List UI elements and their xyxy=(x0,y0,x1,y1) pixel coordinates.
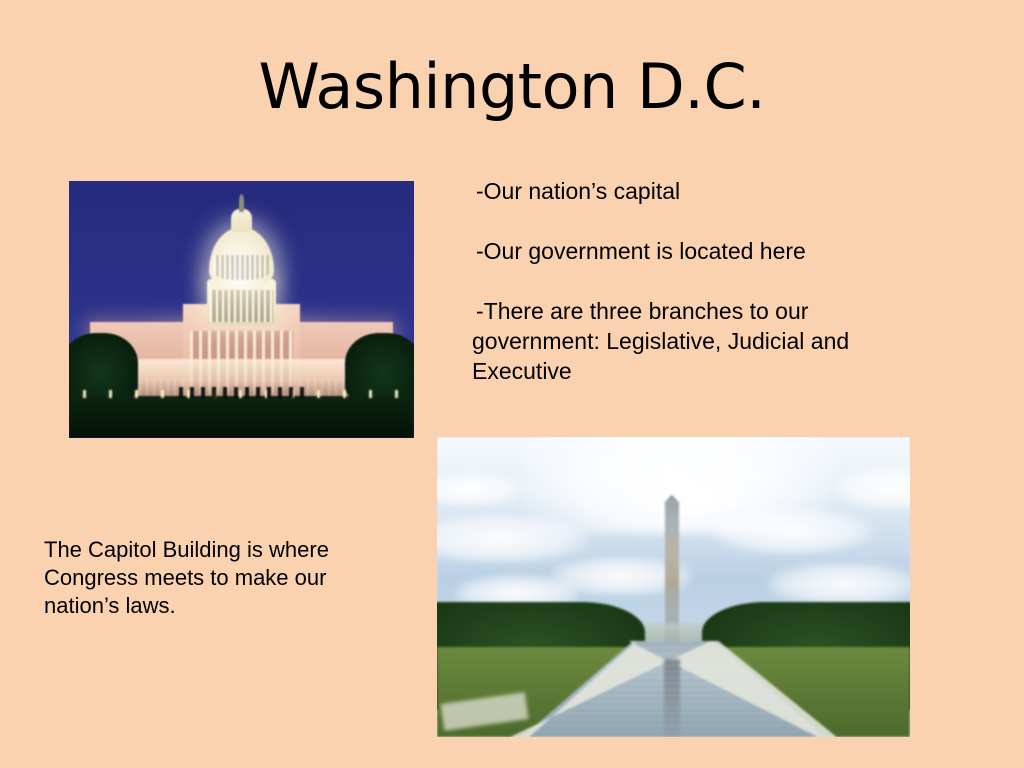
capitol-caption: The Capitol Building is where Congress m… xyxy=(44,536,364,620)
washington-monument-image xyxy=(437,437,910,737)
capitol-lawn xyxy=(69,396,414,438)
cloud-8 xyxy=(437,473,522,506)
capitol-cupola xyxy=(231,209,252,232)
cloud-7 xyxy=(834,467,910,509)
people-silhouettes xyxy=(179,387,303,398)
capitol-building-image xyxy=(69,181,414,438)
statue-of-freedom xyxy=(239,194,245,212)
bullet-item-2: -Our government is located here xyxy=(472,236,920,266)
bullet-item-1: -Our nation’s capital xyxy=(472,176,920,206)
cloud-4 xyxy=(768,563,910,605)
bullet-item-3: -There are three branches to our governm… xyxy=(472,296,920,386)
capitol-image-content xyxy=(69,181,414,438)
cloud-3 xyxy=(711,509,872,554)
cloud-1 xyxy=(437,515,588,563)
bullet-list: -Our nation’s capital -Our government is… xyxy=(472,176,920,386)
page-title: Washington D.C. xyxy=(0,56,1024,118)
monument-image-content xyxy=(437,437,910,737)
slide-canvas: Washington D.C. -Our nation’s capital -O… xyxy=(0,0,1024,768)
